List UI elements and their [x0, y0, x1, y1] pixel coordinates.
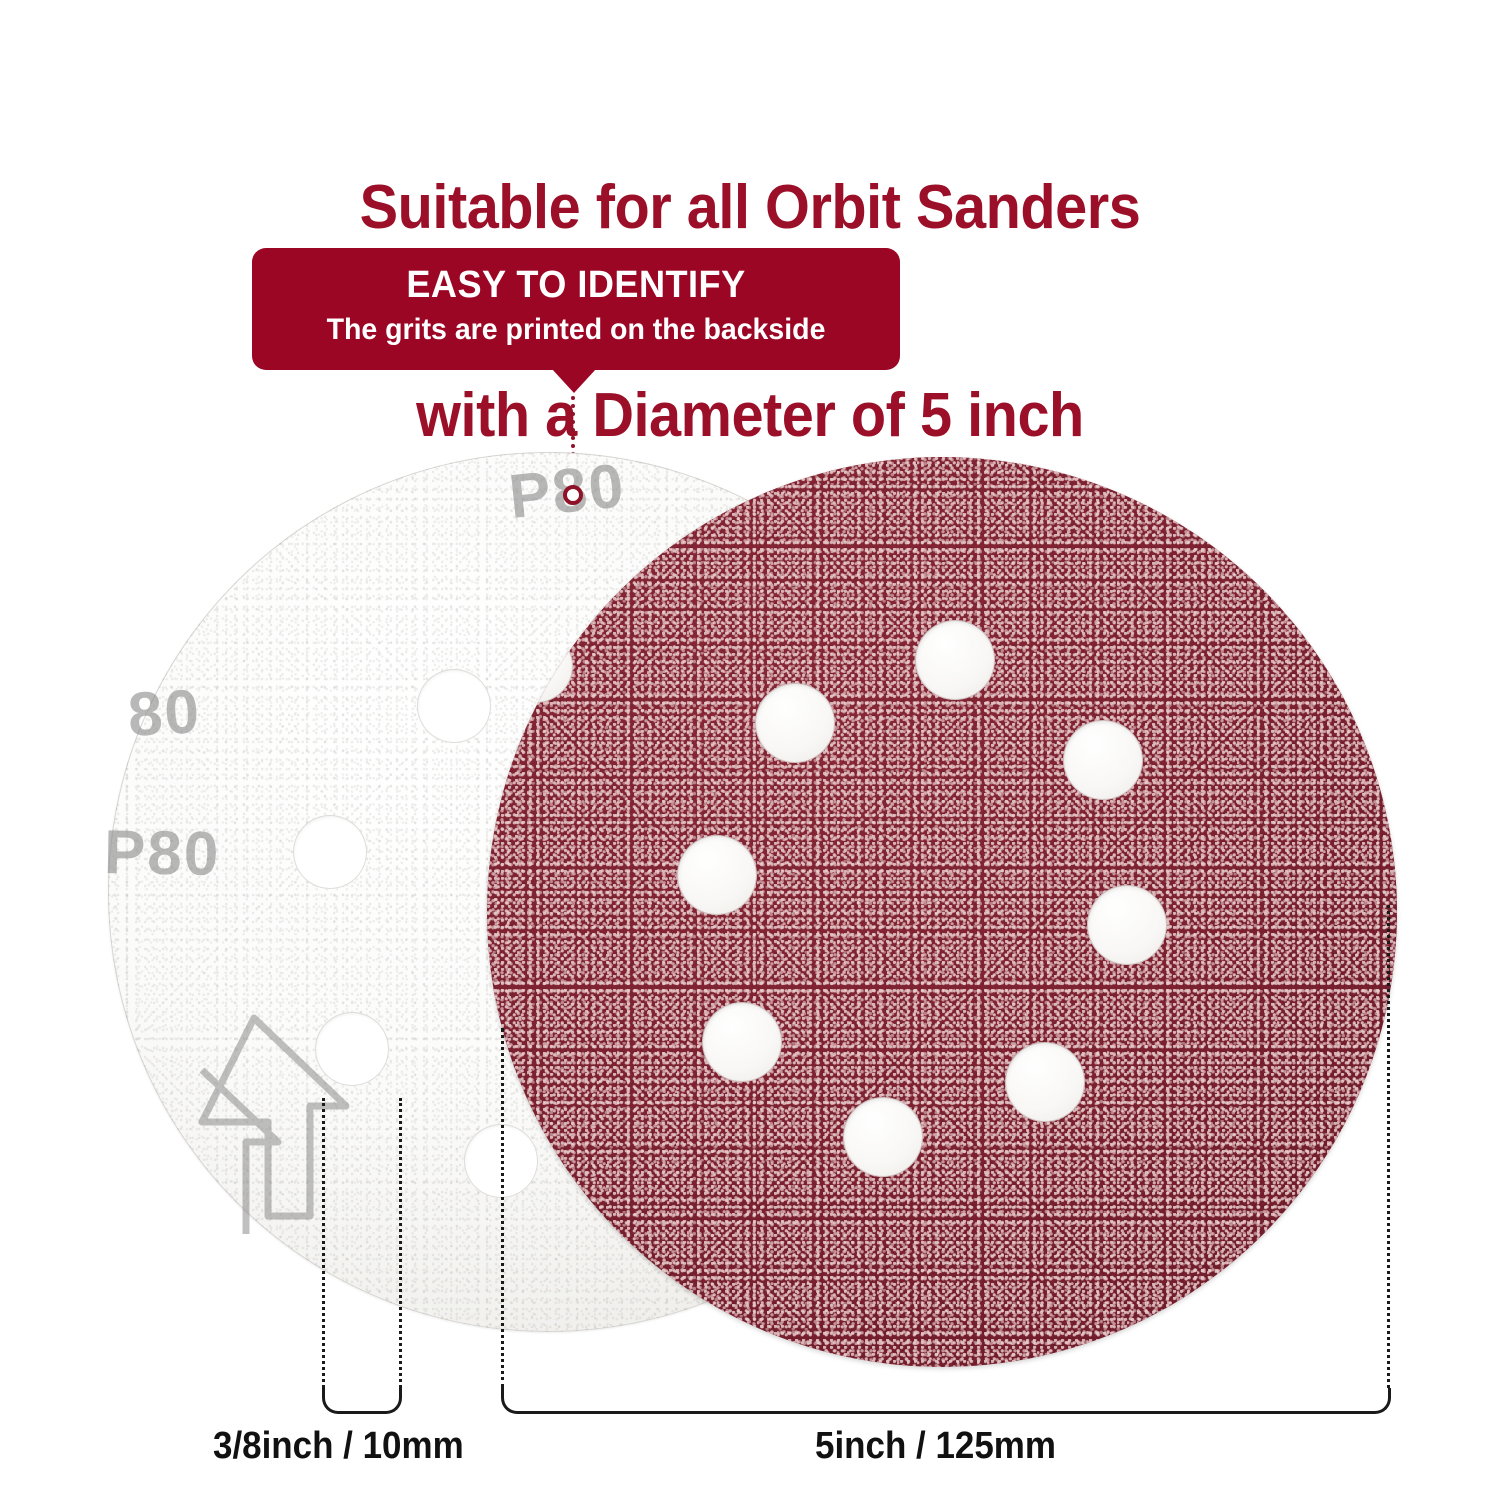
grit-print-label: P80: [103, 817, 221, 890]
abrasive-disc-hole: [702, 1002, 782, 1082]
direction-arrow-icon: [150, 1010, 360, 1240]
hole-dimension-bracket: [322, 1388, 402, 1414]
page-title-line-1: Suitable for all Orbit Sanders: [53, 173, 1448, 242]
hole-dimension-leader-left: [322, 1098, 325, 1388]
grit-print-label: 80: [126, 676, 203, 751]
backing-disc-hole: [417, 669, 491, 743]
product-infographic: Suitable for all Orbit Sanders with a Di…: [0, 0, 1500, 1500]
grit-print-anchor-dot: [563, 485, 583, 505]
abrasive-disc-hole: [677, 835, 757, 915]
abrasive-disc-hole: [1063, 720, 1143, 800]
page-title-line-2: with a Diameter of 5 inch: [53, 381, 1448, 450]
callout-subtitle: The grits are printed on the backside: [268, 313, 884, 348]
hole-dimension-leader-right: [399, 1098, 402, 1388]
hole-dimension-label: 3/8inch / 10mm: [213, 1425, 464, 1468]
callout-pointer-tail: [552, 369, 596, 393]
abrasive-disc-texture: [487, 457, 1397, 1367]
red-abrasive-disc: [487, 457, 1397, 1367]
disc-dimension-leader-right: [1387, 905, 1390, 1388]
abrasive-disc-hole: [843, 1097, 923, 1177]
disc-dimension-bracket: [501, 1388, 1391, 1414]
abrasive-disc-hole: [915, 620, 995, 700]
disc-dimension-leader-left: [501, 1028, 504, 1388]
callout-title: EASY TO IDENTIFY: [268, 264, 884, 308]
backing-disc-hole: [293, 815, 367, 889]
abrasive-disc-hole: [755, 683, 835, 763]
abrasive-disc-hole: [1087, 885, 1167, 965]
disc-dimension-label: 5inch / 125mm: [815, 1425, 1056, 1468]
easy-to-identify-callout: EASY TO IDENTIFY The grits are printed o…: [252, 248, 900, 370]
abrasive-disc-hole: [499, 629, 573, 703]
abrasive-disc-hole: [1005, 1042, 1085, 1122]
